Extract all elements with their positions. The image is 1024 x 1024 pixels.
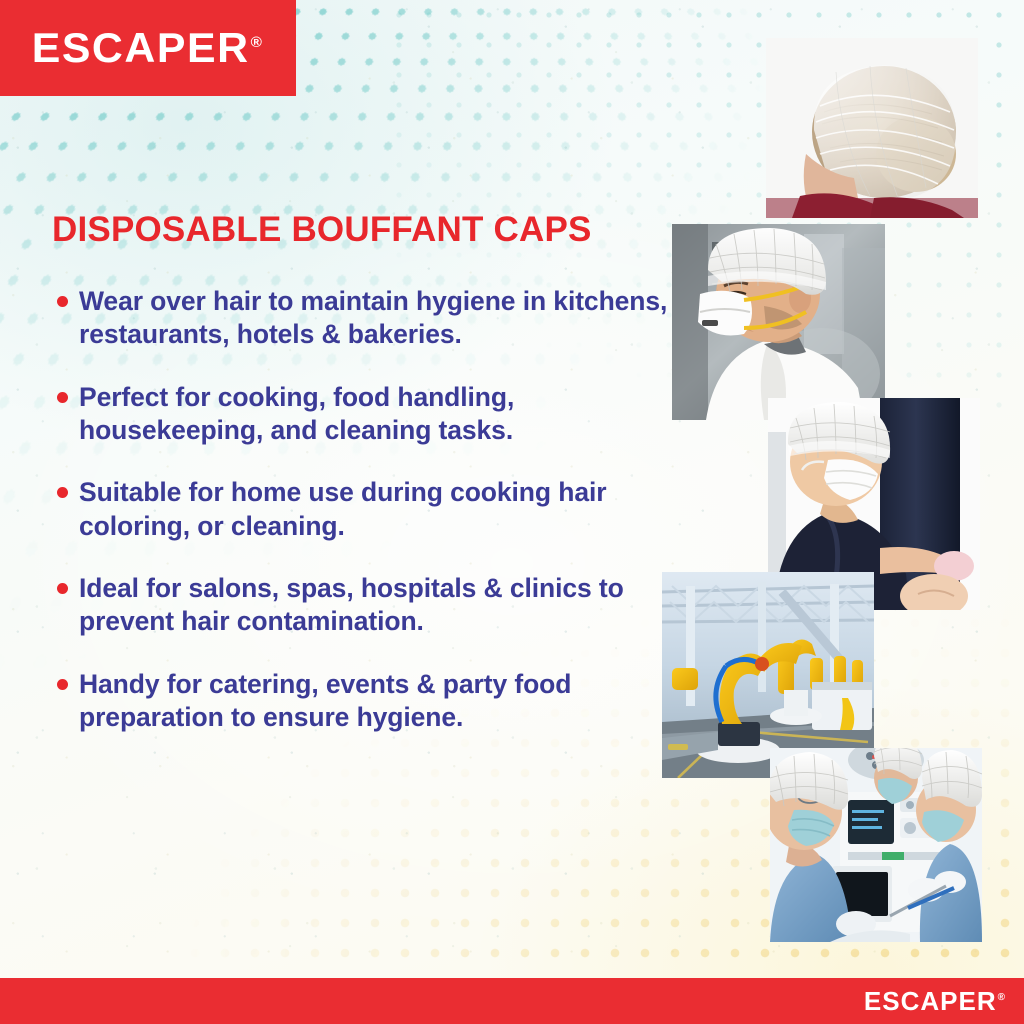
list-item: Perfect for cooking, food handling, hous…	[52, 381, 672, 448]
content-column: DISPOSABLE BOUFFANT CAPS Wear over hair …	[52, 212, 672, 735]
photo-food-worker-mask	[672, 224, 885, 420]
product-infographic-poster: ESCAPER® DISPOSABLE BOUFFANT CAPS Wear o…	[0, 0, 1024, 1024]
brand-logo-text: ESCAPER	[32, 24, 250, 71]
footer-brand-logo: ESCAPER®	[864, 988, 1006, 1014]
list-item: Handy for catering, events & party food …	[52, 668, 672, 735]
photo-surgical-team	[770, 748, 982, 942]
list-item: Suitable for home use during cooking hai…	[52, 476, 672, 543]
header-brand-bar: ESCAPER®	[0, 0, 296, 96]
footer-registered-trademark-icon: ®	[998, 992, 1006, 1003]
list-item: Wear over hair to maintain hygiene in ki…	[52, 285, 672, 352]
photo-woman-bouffant-cap-rear	[766, 38, 978, 218]
brand-logo: ESCAPER®	[32, 27, 264, 69]
footer-brand-bar: ESCAPER®	[0, 978, 1024, 1024]
footer-brand-logo-text: ESCAPER	[864, 986, 997, 1016]
feature-bullet-list: Wear over hair to maintain hygiene in ki…	[52, 285, 672, 735]
registered-trademark-icon: ®	[251, 34, 264, 51]
list-item: Ideal for salons, spas, hospitals & clin…	[52, 572, 672, 639]
page-title: DISPOSABLE BOUFFANT CAPS	[52, 212, 672, 249]
